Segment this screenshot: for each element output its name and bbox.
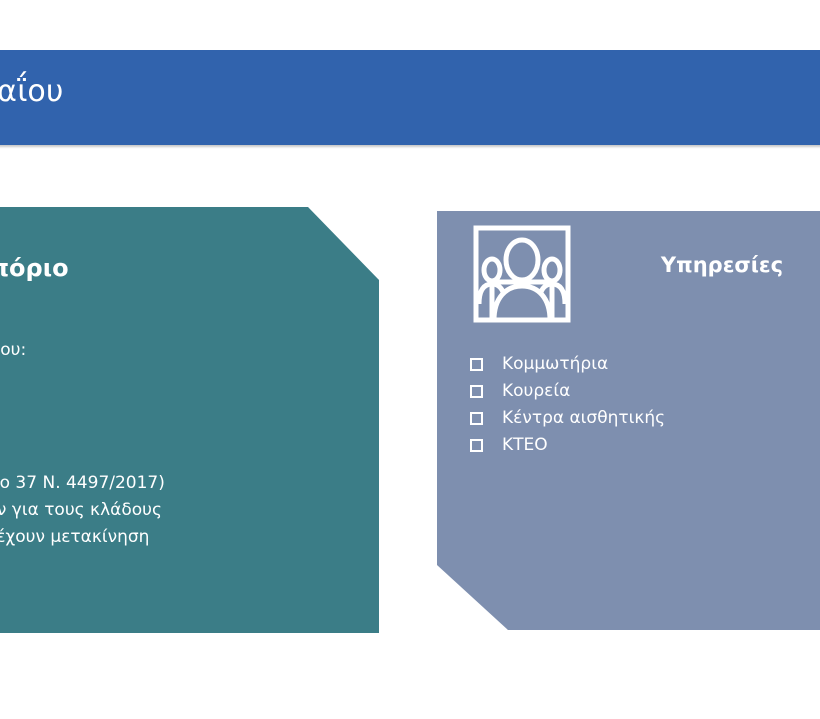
retail-paragraph: ταναλωτών (άρθρο 37 Ν. 4497/2017) ωση με… bbox=[0, 470, 364, 578]
services-list: Κομμωτήρια Κουρεία Κέντρα αισθητικής ΚΤΕ… bbox=[470, 352, 820, 460]
square-bullet-icon bbox=[470, 358, 483, 371]
list-item[interactable]: ΚΤΕΟ bbox=[470, 433, 820, 460]
services-card[interactable]: Υπηρεσίες Κομμωτήρια Κουρεία Κέντρα αισθ… bbox=[437, 211, 820, 630]
retail-line: ωση μετακινήσεων για τους κλάδους bbox=[0, 497, 364, 524]
retail-line: ις λιανικού εμπορίου: bbox=[0, 337, 364, 364]
list-item-label: Κέντρα αισθητικής bbox=[502, 406, 665, 431]
banner-title: 4 Μαΐου bbox=[0, 72, 702, 112]
services-card-title: Υπηρεσίες bbox=[587, 251, 820, 279]
list-item-label: ΚΤΕΟ bbox=[502, 433, 548, 458]
slide-canvas: 4 Μαΐου Λιανικό Εμπόριο ις λιανικού εμπο… bbox=[0, 0, 820, 719]
list-item-label: Κομμωτήρια bbox=[502, 352, 608, 377]
square-bullet-icon bbox=[470, 385, 483, 398]
square-bullet-icon bbox=[470, 412, 483, 425]
list-item[interactable]: Κουρεία bbox=[470, 379, 820, 406]
retail-line: ταναλωτών (άρθρο 37 Ν. 4497/2017) bbox=[0, 470, 364, 497]
retail-line: ρτικά bbox=[0, 364, 364, 391]
retail-card[interactable]: Λιανικό Εμπόριο ις λιανικού εμπορίου: ρτ… bbox=[0, 207, 379, 633]
list-item[interactable]: Κέντρα αισθητικής bbox=[470, 406, 820, 433]
retail-card-body: ις λιανικού εμπορίου: ρτικά εξοπλισμός τ… bbox=[0, 337, 364, 578]
list-item-label: Κουρεία bbox=[502, 379, 570, 404]
retail-card-title: Λιανικό Εμπόριο bbox=[0, 252, 264, 284]
retail-line: γορών που εμπεριέχουν μετακίνηση bbox=[0, 524, 364, 551]
retail-line: εια σε Περιφέρεια bbox=[0, 551, 364, 578]
people-group-icon bbox=[470, 222, 574, 326]
header-banner: 4 Μαΐου bbox=[0, 50, 820, 145]
retail-paragraph: εξοπλισμός bbox=[0, 417, 364, 444]
square-bullet-icon bbox=[470, 439, 483, 452]
list-item[interactable]: Κομμωτήρια bbox=[470, 352, 820, 379]
retail-paragraph: ις λιανικού εμπορίου: ρτικά bbox=[0, 337, 364, 391]
retail-line: εξοπλισμός bbox=[0, 417, 364, 444]
